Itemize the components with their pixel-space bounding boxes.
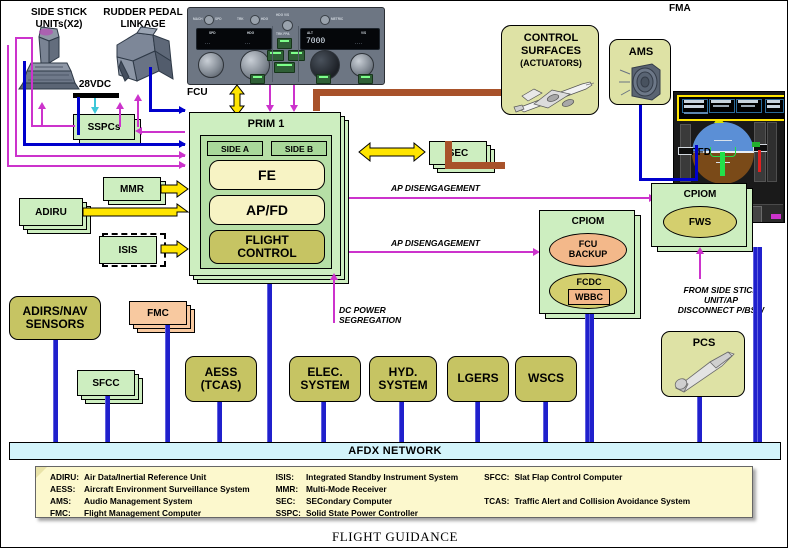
dc-power-line xyxy=(333,279,335,323)
ap-disengagement-label-1: AP DISENGAGEMENT xyxy=(391,183,480,193)
afdx-line-fmc xyxy=(165,325,170,444)
pcs-nacelle-image xyxy=(670,350,740,394)
sidestick-prim-blue-arrow xyxy=(179,140,186,148)
adiru-block[interactable]: ADIRU xyxy=(19,198,83,226)
ams-line-up xyxy=(639,105,642,180)
dc-power-label: DC POWER SEGREGATION xyxy=(339,305,401,325)
legend-column-3: SFCC:Slat Flap Control Computer TCAS:Tra… xyxy=(484,471,694,519)
fcu-ap2-button[interactable] xyxy=(288,50,305,61)
fcu-knob-true[interactable] xyxy=(250,15,260,25)
pfd-ams-line-h xyxy=(639,178,697,181)
control-surfaces-label: CONTROL SURFACES (ACTUATORS) xyxy=(502,32,600,70)
sidestick-prim-arrow-b xyxy=(179,161,186,169)
legend-row: AESS:Aircraft Environment Surveillance S… xyxy=(50,483,254,495)
prim-sides-container: SIDE A SIDE B FE AP/FD FLIGHT CONTROL xyxy=(200,135,332,269)
sidestick-blue-line xyxy=(77,97,80,135)
pcs-label: PCS xyxy=(662,337,746,350)
cpiom-left-block[interactable]: CPIOM FCUBACKUP FCDC WBBC xyxy=(539,210,635,314)
afdx-line-cpiom-right-2 xyxy=(757,247,762,444)
legend-row: SSPC:Solid State Power Controller xyxy=(276,507,463,519)
fcu-divider-left xyxy=(272,26,273,82)
fws-block[interactable]: FWS xyxy=(663,206,737,238)
fcdc-label: FCDC xyxy=(550,277,628,287)
afdx-line-sfcc xyxy=(105,396,110,444)
altitude-trend-bar xyxy=(758,150,761,172)
wscs-block[interactable]: WSCS xyxy=(515,356,577,402)
sidestick-left-bus xyxy=(15,37,17,157)
side-stick-disconnect-line xyxy=(699,253,701,279)
rudder-prim-blue-arrow xyxy=(179,106,186,114)
legend-row: FMC:Flight Management Computer xyxy=(50,507,254,519)
fcu-ap1-button[interactable] xyxy=(267,50,284,61)
aess-block[interactable]: AESS(TCAS) xyxy=(185,356,257,402)
sidestick-prim-line-a xyxy=(15,155,185,157)
sspc-prim-return-arrow xyxy=(135,127,142,135)
sidestick-sspc-line-1h xyxy=(31,125,75,127)
flight-control-block[interactable]: FLIGHT CONTROL xyxy=(209,230,325,264)
fcu-ap2-disconnect-line xyxy=(293,85,295,107)
hyd-system-block[interactable]: HYD.SYSTEM xyxy=(369,356,437,402)
fmc-block[interactable]: FMC xyxy=(129,301,187,325)
legend-row: AMS:Audio Management System xyxy=(50,495,254,507)
rudder-feed-line xyxy=(137,101,139,127)
legend-row: TCAS:Traffic Alert and Collision Avoidan… xyxy=(484,495,694,519)
prim-actuator-pipe-h xyxy=(313,89,505,96)
altitude-bug xyxy=(752,142,760,147)
vertical-speed-tape xyxy=(767,122,777,182)
mmr-prim-arrow xyxy=(161,181,189,197)
afdx-line-prim xyxy=(267,284,272,444)
label-28vdc: 28VDC xyxy=(67,79,123,91)
fcu-loc-button[interactable] xyxy=(277,38,292,49)
isis-block[interactable]: ISIS xyxy=(99,236,157,264)
ap-disengagement-line-1 xyxy=(359,197,651,199)
fcu-panel[interactable]: MACH SPD TRK HDG HDG V/S TRK FPA METRIC … xyxy=(187,7,385,85)
ams-label: AMS xyxy=(610,46,672,59)
ap-disengagement-label-2: AP DISENGAGEMENT xyxy=(391,238,480,248)
afdx-line-hyd xyxy=(399,402,404,444)
afdx-line-cpiom-left-2 xyxy=(589,314,594,444)
label-fma: FMA xyxy=(669,3,703,15)
prim-side-a: SIDE A xyxy=(207,141,263,156)
fcu-knob-metric[interactable] xyxy=(320,15,330,25)
afdx-line-lgers xyxy=(475,402,480,444)
rudder-feed-arrow xyxy=(134,94,142,101)
speaker-icon xyxy=(618,62,666,102)
sspc-prim-return-line xyxy=(141,131,185,133)
legend-box: ADIRU:Air Data/Inertial Reference Unit A… xyxy=(35,466,753,518)
side-stick-disconnect-arrow xyxy=(696,247,704,254)
aircraft-image xyxy=(508,74,596,116)
afdx-line-elec xyxy=(321,402,326,444)
prim-side-b: SIDE B xyxy=(271,141,327,156)
rudder-blue-line xyxy=(149,67,152,111)
sidestick-prim-arrow-a xyxy=(179,151,186,159)
power-feed-arrowhead xyxy=(91,107,99,114)
legend-column-2: ISIS:Integrated Standby Instrument Syste… xyxy=(276,471,463,519)
cpiom-right-label: CPIOM xyxy=(652,189,748,201)
fcu-knob-mach[interactable] xyxy=(204,15,214,25)
wbbc-block[interactable]: WBBC xyxy=(568,289,610,305)
afdx-line-wscs xyxy=(543,402,548,444)
afdx-line-aess xyxy=(217,402,222,444)
fe-block[interactable]: FE xyxy=(209,160,325,190)
legend-row: SEC:SECondary Computer xyxy=(276,495,463,507)
prim-sec-bidirectional-arrow xyxy=(359,143,425,161)
prim-side-a-label: SIDE A xyxy=(208,145,262,155)
prim-side-b-label: SIDE B xyxy=(272,145,326,155)
sspc-to-sidestick-line xyxy=(41,109,43,127)
fcu-hdg-mode-button[interactable] xyxy=(250,74,265,84)
cpiom-left-label: CPIOM xyxy=(540,216,636,228)
sidestick-blue-bus xyxy=(23,61,26,145)
diagram-canvas: SIDE STICKUNITs(X2) RUDDER PEDALLINKAGE xyxy=(0,0,788,548)
fcu-ap1-arrowhead xyxy=(266,105,274,112)
sspc-to-rudder-arrow xyxy=(116,102,124,109)
fcu-prim-bidirectional-arrow xyxy=(229,85,245,115)
ams-block[interactable]: AMS xyxy=(609,39,671,105)
dc-power-arrow xyxy=(330,273,338,280)
page-title: FLIGHT GUIDANCE xyxy=(1,529,788,545)
fcu-appr-button[interactable] xyxy=(274,62,295,73)
legend-row: MMR:Multi-Mode Receiver xyxy=(276,483,463,495)
fcu-vs-mode-button[interactable] xyxy=(358,74,373,84)
sspcs-block[interactable]: SSPCs xyxy=(73,114,135,140)
fcu-ap2-arrowhead xyxy=(290,105,298,112)
sidestick-outer-bus xyxy=(7,45,9,167)
pcs-block[interactable]: PCS xyxy=(661,331,745,397)
fcu-speed-knob[interactable] xyxy=(198,52,224,78)
sec-actuator-pipe-h xyxy=(445,162,505,169)
fcu-alt-vs-display: ALT V/S 7000 - - - - xyxy=(300,28,380,50)
fcu-divider-right xyxy=(298,26,299,82)
cpiom-right-block[interactable]: CPIOM FWS xyxy=(651,183,747,247)
apfd-block[interactable]: AP/FD xyxy=(209,195,325,225)
afdx-network-bar: AFDX NETWORK xyxy=(9,442,781,460)
legend-row: ADIRU:Air Data/Inertial Reference Unit xyxy=(50,471,254,483)
lgers-block[interactable]: LGERS xyxy=(447,356,509,402)
prim-block[interactable]: PRIM 1 SIDE A SIDE B FE AP/FD FLIGHT CON… xyxy=(189,112,341,276)
nav-mode-flag xyxy=(771,214,781,219)
sidestick-top-tap xyxy=(15,37,33,39)
pfd-ams-line-v xyxy=(695,145,698,181)
fcu-ap1-disconnect-line xyxy=(269,85,271,107)
control-surfaces-block[interactable]: CONTROL SURFACES (ACTUATORS) xyxy=(501,25,599,115)
fcu-spd-hdg-display: SPD HDG - - - - - - xyxy=(196,28,272,50)
sidestick-sspc-line-1 xyxy=(31,37,33,127)
afdx-line-pcs xyxy=(697,397,702,444)
legend-column-1: ADIRU:Air Data/Inertial Reference Unit A… xyxy=(50,471,254,519)
adirs-nav-block[interactable]: ADIRS/NAVSENSORS xyxy=(9,296,101,340)
legend-row: SFCC:Slat Flap Control Computer xyxy=(484,471,694,495)
sspc-to-sidestick-arrow xyxy=(38,102,46,109)
label-fcu: FCU xyxy=(187,87,217,99)
prim-out-mag-1 xyxy=(349,197,359,199)
side-stick-source-label: FROM SIDE STICK UNIT/AP DISCONNECT P/BSW xyxy=(655,285,787,316)
afdx-line-adirs xyxy=(53,340,58,444)
isis-prim-arrow xyxy=(161,241,189,257)
adiru-prim-arrow xyxy=(83,204,189,220)
mmr-block[interactable]: MMR xyxy=(103,177,161,201)
fcu-knob-hdg-trk[interactable] xyxy=(282,20,293,31)
legend-row: ISIS:Integrated Standby Instrument Syste… xyxy=(276,471,463,483)
sspc-to-rudder-line xyxy=(119,109,121,127)
prim-title: PRIM 1 xyxy=(190,118,342,131)
sidestick-prim-blue xyxy=(23,143,185,146)
fcdc-block[interactable]: FCDC WBBC xyxy=(549,273,627,309)
legend-dogear-icon xyxy=(36,467,47,478)
sidestick-prim-line-b xyxy=(7,165,185,167)
fcu-backup-block[interactable]: FCUBACKUP xyxy=(549,233,627,267)
fcu-alt-mode-button[interactable] xyxy=(316,74,331,84)
prim-out-mag-2 xyxy=(349,251,359,253)
elec-system-block[interactable]: ELEC.SYSTEM xyxy=(289,356,361,402)
ap-disengagement-line-2 xyxy=(359,251,535,253)
sfcc-block[interactable]: SFCC xyxy=(77,370,135,396)
fma-bar xyxy=(677,95,785,121)
